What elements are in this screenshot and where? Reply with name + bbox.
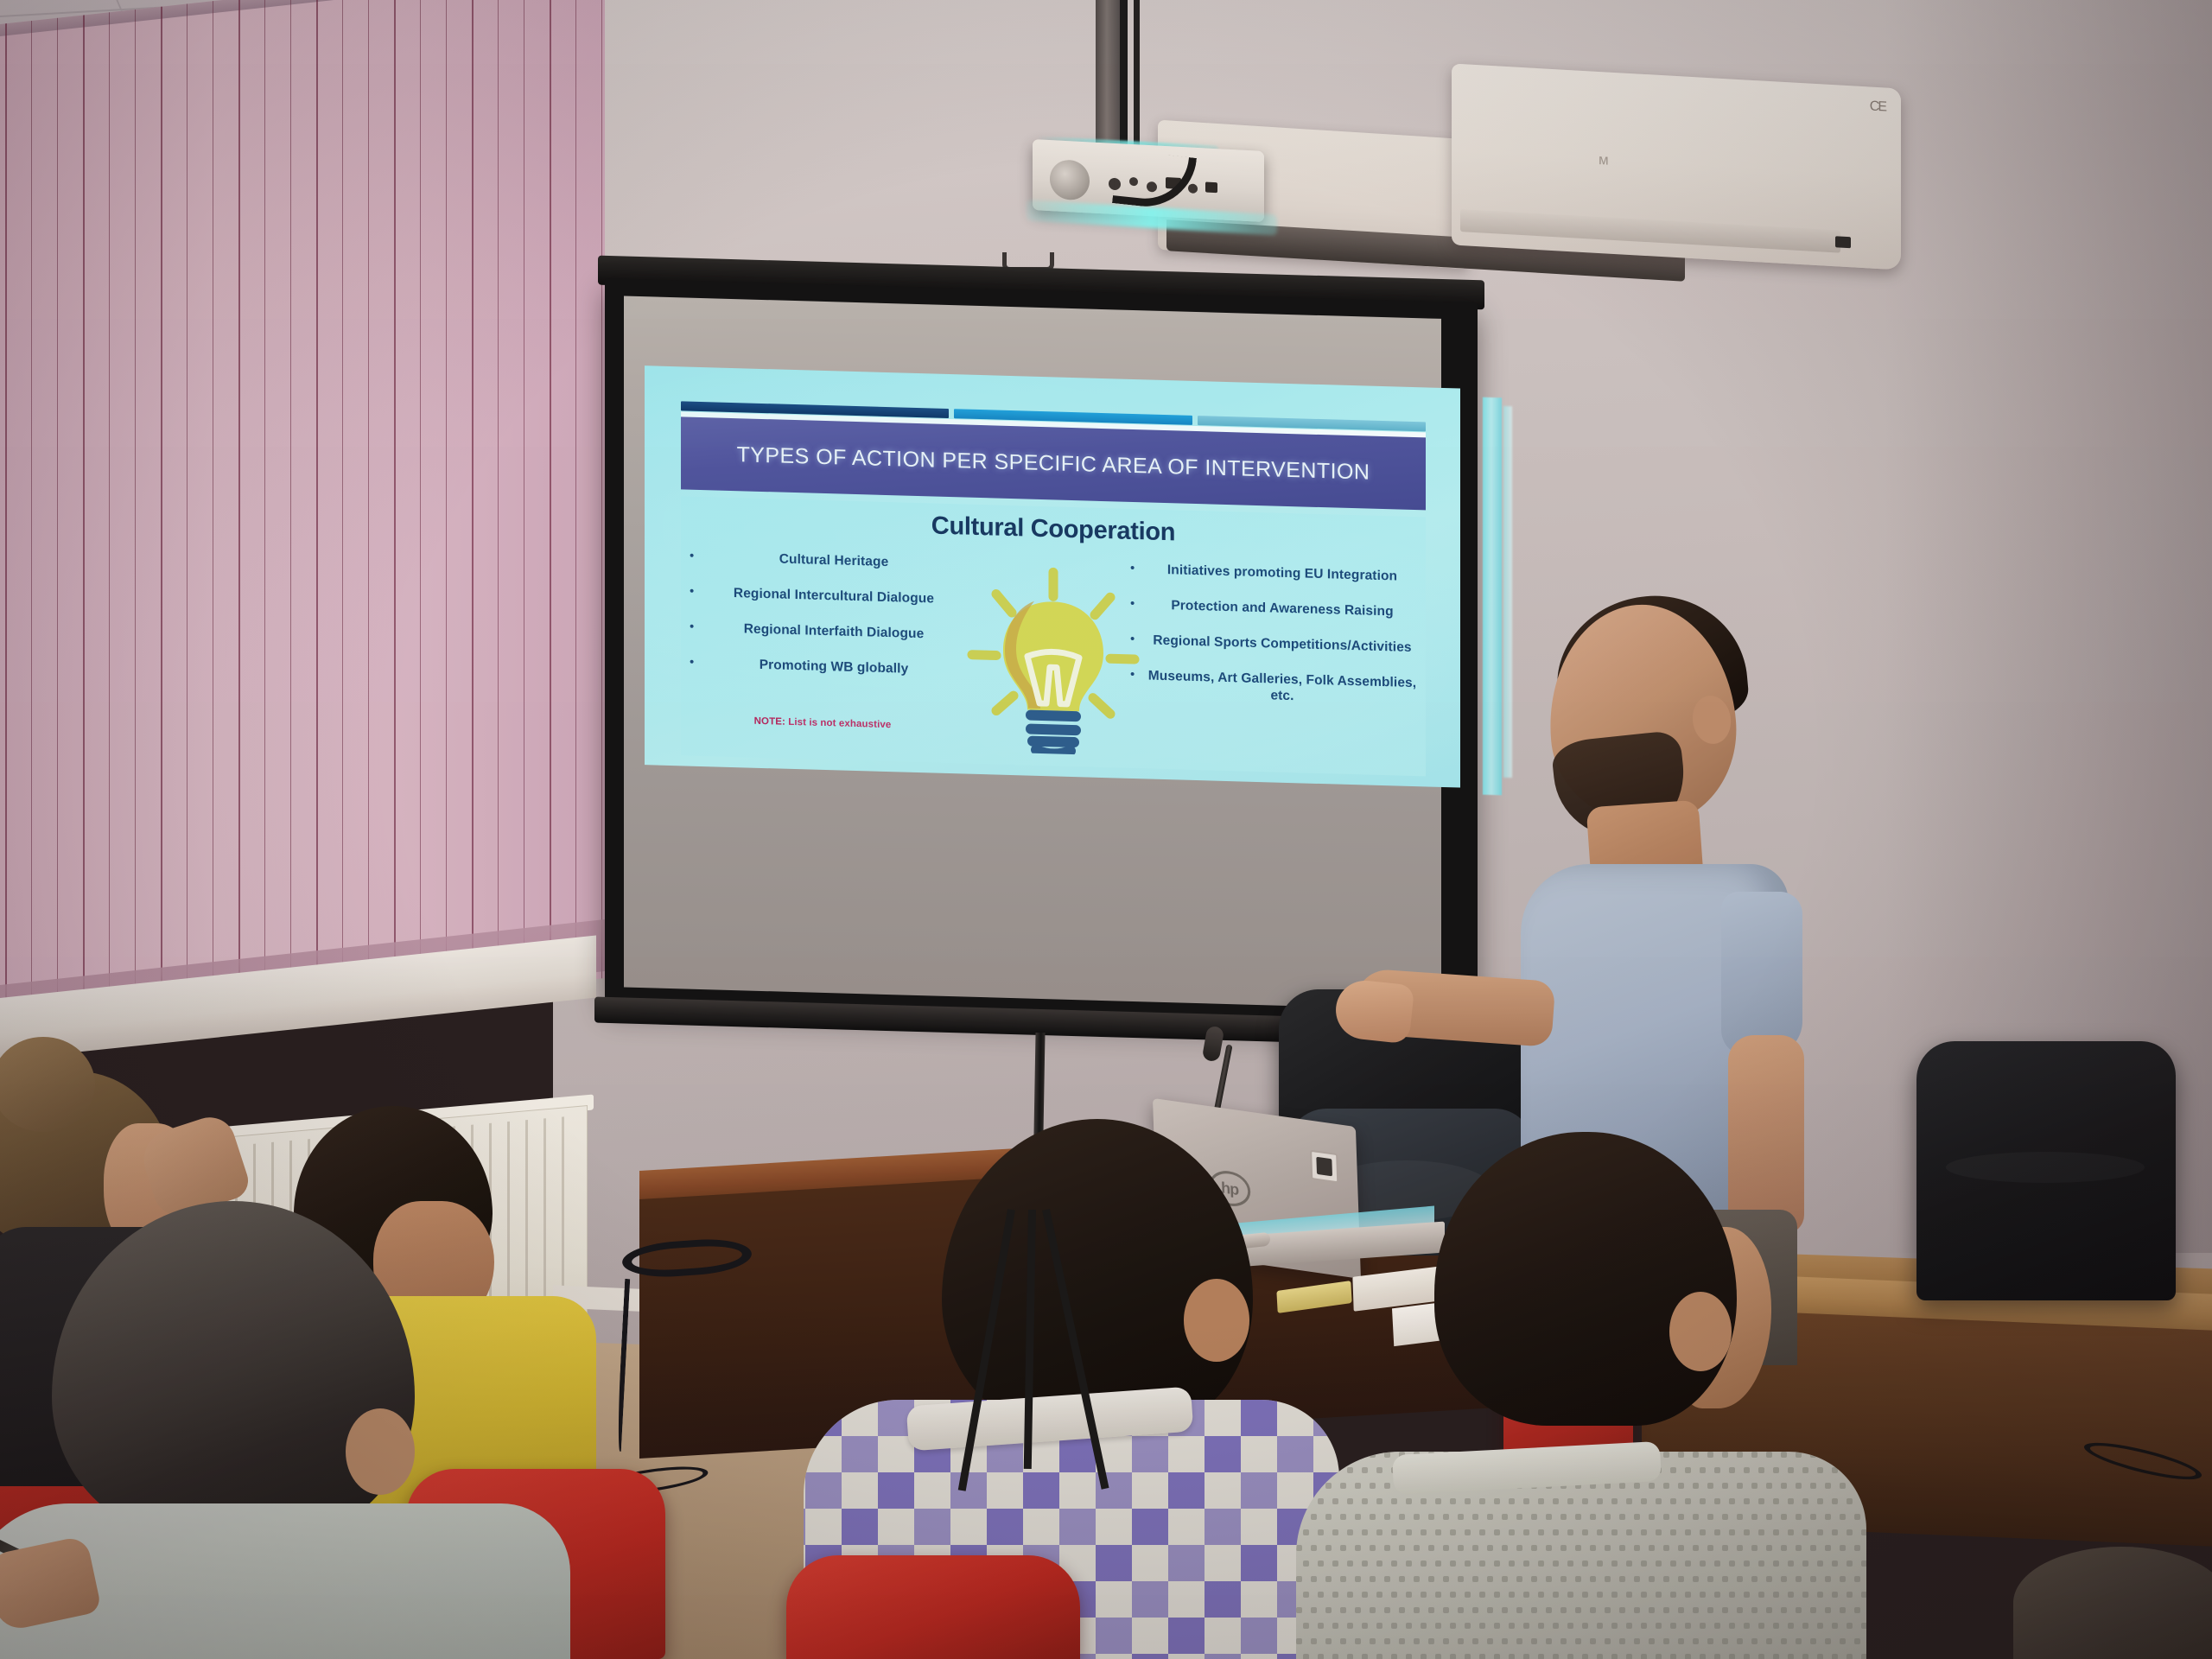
slide-bullet-text: Regional Interfaith Dialogue bbox=[703, 620, 964, 643]
slide-bullet-item: •Regional Sports Competitions/Activities bbox=[1130, 632, 1421, 656]
air-conditioner-logo: ᴍ bbox=[1599, 151, 1610, 169]
slide-bullet-item: •Initiatives promoting EU Integration bbox=[1130, 561, 1421, 585]
slide-bullet-item: •Museums, Art Galleries, Folk Assemblies… bbox=[1130, 667, 1421, 708]
slide-note: NOTE: List is not exhaustive bbox=[710, 715, 935, 731]
slide-subtitle: Cultural Cooperation bbox=[681, 505, 1426, 554]
slide-bullets-left: •Cultural Heritage•Regional Intercultura… bbox=[690, 549, 964, 698]
lightbulb-icon bbox=[967, 565, 1140, 757]
grey-hair-man-ear bbox=[346, 1408, 415, 1495]
slide-body: Cultural Cooperation •Cultural Heritage•… bbox=[681, 496, 1426, 776]
bullet-dot-icon: • bbox=[690, 549, 703, 563]
bullet-dot-icon: • bbox=[690, 620, 703, 634]
bullet-dot-icon: • bbox=[690, 584, 703, 599]
projection-screen: TYPES OF ACTION PER SPECIFIC AREA OF INT… bbox=[605, 266, 1478, 1059]
slide-note-text: List is not exhaustive bbox=[785, 717, 891, 730]
screen-surface: TYPES OF ACTION PER SPECIFIC AREA OF INT… bbox=[624, 296, 1441, 1010]
slide-bullet-text: Regional Intercultural Dialogue bbox=[703, 584, 964, 607]
far-right-person-head bbox=[2013, 1547, 2212, 1659]
presenter-sleeve bbox=[1721, 892, 1802, 1056]
red-audience-chair[interactable] bbox=[786, 1555, 1080, 1659]
ce-mark-icon: CE bbox=[1870, 99, 1885, 116]
projected-slide: TYPES OF ACTION PER SPECIFIC AREA OF INT… bbox=[645, 365, 1460, 787]
slide-bullet-item: •Protection and Awareness Raising bbox=[1130, 596, 1421, 620]
bullet-dot-icon: • bbox=[1130, 561, 1144, 575]
bullet-dot-icon: • bbox=[1130, 596, 1144, 611]
slide-bullet-text: Promoting WB globally bbox=[703, 655, 964, 678]
screen-light-spill bbox=[1483, 397, 1502, 796]
slide-bullet-item: •Regional Interfaith Dialogue bbox=[690, 620, 964, 644]
bullet-dot-icon: • bbox=[1130, 667, 1144, 682]
slide-bullet-item: •Regional Intercultural Dialogue bbox=[690, 584, 964, 608]
slide-bullet-text: Protection and Awareness Raising bbox=[1144, 596, 1421, 620]
screen-light-spill-2 bbox=[1503, 406, 1512, 778]
slide-bullet-text: Regional Sports Competitions/Activities bbox=[1144, 632, 1421, 656]
black-office-chair-right[interactable] bbox=[1916, 1041, 2176, 1300]
checkered-shirt-man-ear bbox=[1184, 1279, 1249, 1362]
air-conditioner-indicator bbox=[1835, 236, 1851, 248]
slide-bullet-text: Cultural Heritage bbox=[703, 549, 964, 572]
air-conditioner: ᴍ CE bbox=[1452, 63, 1901, 270]
slide-bullet-item: •Cultural Heritage bbox=[690, 549, 964, 573]
screen-frame: TYPES OF ACTION PER SPECIFIC AREA OF INT… bbox=[605, 278, 1478, 1027]
laptop-rear-camera-icon bbox=[1310, 1150, 1338, 1184]
bullet-dot-icon: • bbox=[1130, 632, 1144, 646]
slide-bullet-item: •Promoting WB globally bbox=[690, 655, 964, 679]
slide-bullet-text: Initiatives promoting EU Integration bbox=[1144, 561, 1421, 585]
presentation-room-photo: ᴍ CE bbox=[0, 0, 2212, 1659]
presenter-right-arm bbox=[1728, 1035, 1804, 1234]
young-man-ear bbox=[1669, 1292, 1732, 1371]
slide-title: TYPES OF ACTION PER SPECIFIC AREA OF INT… bbox=[737, 442, 1370, 485]
projector-lens-icon bbox=[1050, 159, 1090, 200]
slide-note-prefix: NOTE: bbox=[754, 716, 785, 728]
air-conditioner-vent bbox=[1460, 209, 1840, 253]
slide-bullets-right: •Initiatives promoting EU Integration•Pr… bbox=[1130, 561, 1421, 727]
slide-bullet-text: Museums, Art Galleries, Folk Assemblies,… bbox=[1144, 667, 1421, 708]
window-blinds bbox=[0, 0, 605, 1044]
bullet-dot-icon: • bbox=[690, 655, 703, 670]
